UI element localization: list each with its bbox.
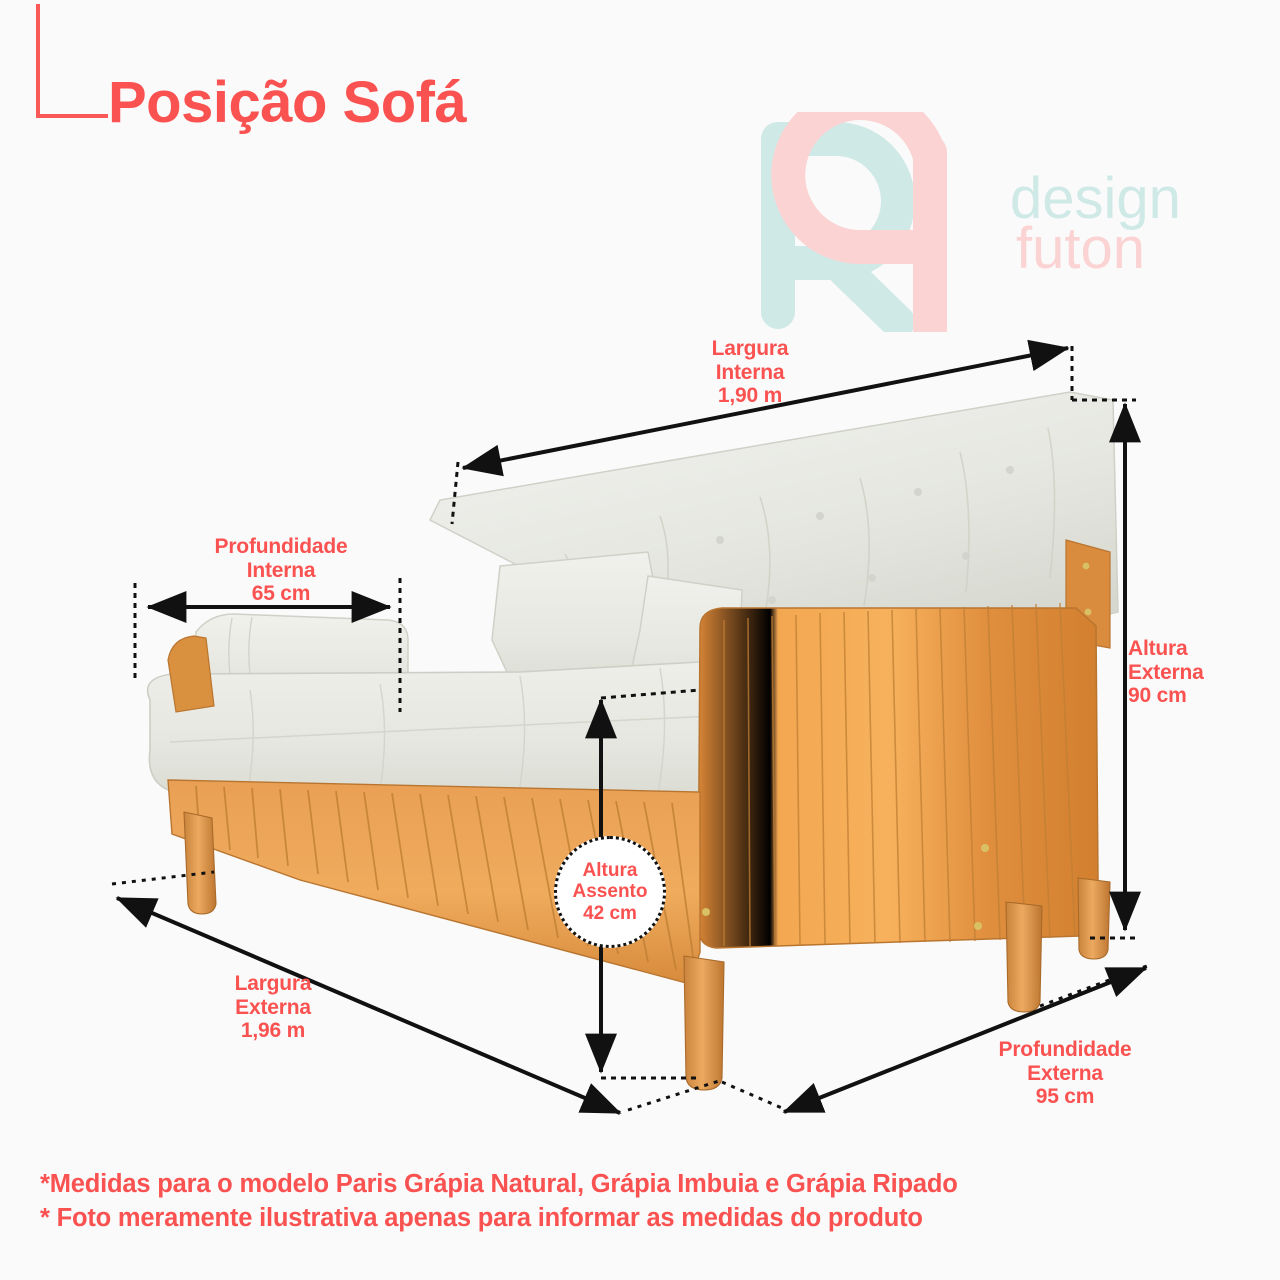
leg-front-right (684, 956, 724, 1090)
screw-icon (1083, 563, 1090, 570)
screw-icon (1085, 609, 1092, 616)
ext-line-prof-externa-top (1040, 964, 1152, 1006)
seat-height-badge: Altura Assento 42 cm (554, 836, 666, 948)
ext-line-prof-externa-bottom (722, 1082, 782, 1108)
leg-rear-far (1078, 878, 1110, 959)
dim-label-profundidade-externa: Profundidade Externa 95 cm (955, 1038, 1175, 1109)
footer-notes: *Medidas para o modelo Paris Grápia Natu… (40, 1168, 1250, 1235)
dim-label-altura-assento: Altura Assento 42 cm (573, 860, 648, 924)
product-dimension-diagram: Posição Sofá design futon (0, 0, 1280, 1280)
leg-rear-right (1006, 902, 1042, 1012)
dim-label-profundidade-interna: Profundidade Interna 65 cm (156, 535, 406, 606)
footer-note-line-1: *Medidas para o modelo Paris Grápia Natu… (40, 1168, 1250, 1202)
dim-label-altura-externa: Altura Externa 90 cm (1128, 637, 1268, 708)
left-arm-post (168, 636, 214, 712)
leg-front-left (184, 812, 216, 914)
footer-note-line-2: * Foto meramente ilustrativa apenas para… (40, 1202, 1250, 1236)
ext-line-largura-externa-bottom (628, 1080, 722, 1110)
dim-label-largura-interna: Largura Interna 1,90 m (625, 337, 875, 408)
dim-label-largura-externa: Largura Externa 1,96 m (158, 972, 388, 1043)
